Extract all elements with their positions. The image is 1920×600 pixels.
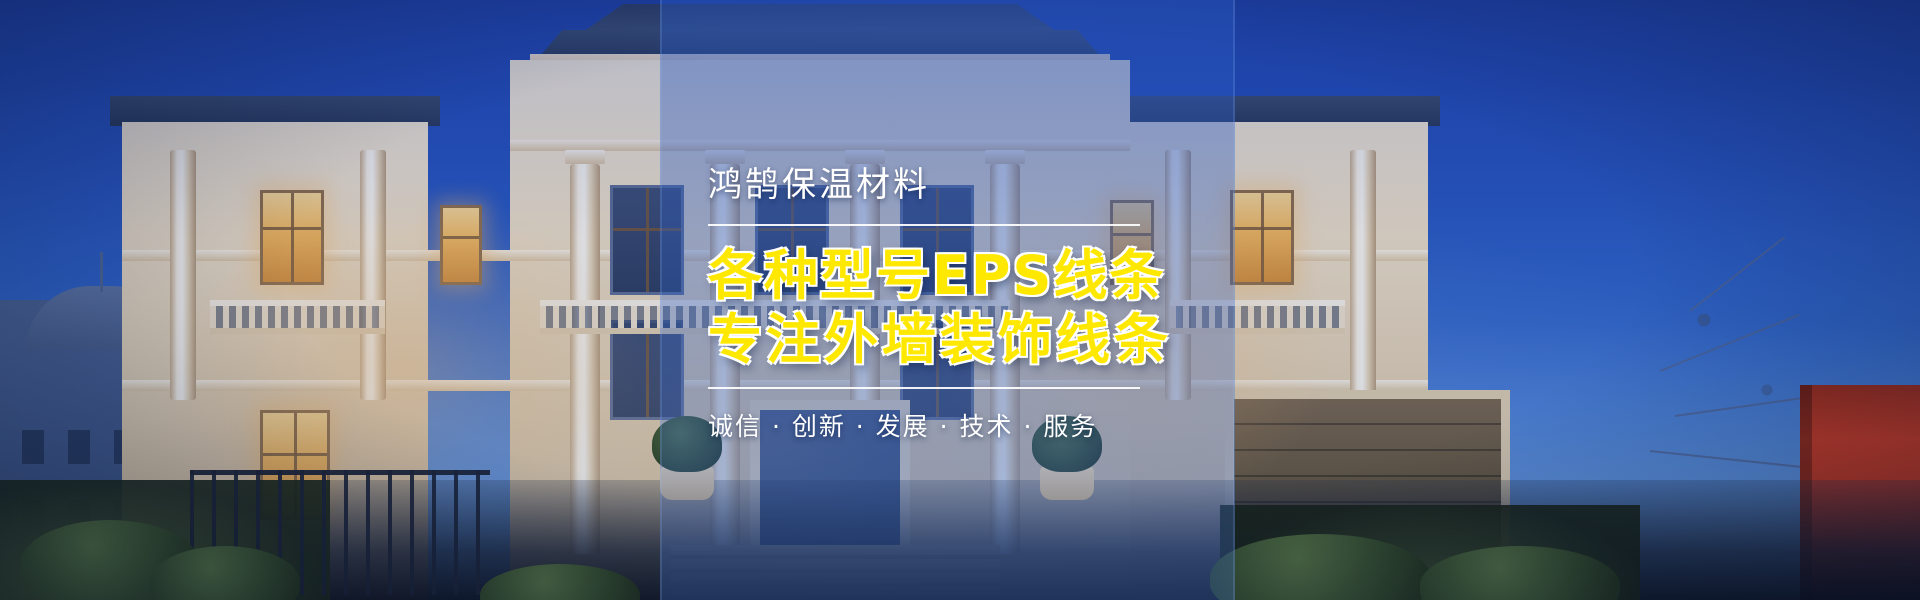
- background-antenna: [100, 252, 103, 292]
- divider-top: [708, 224, 1140, 226]
- pilaster: [360, 150, 386, 400]
- headline-line-2: 专注外墙装饰线条: [708, 308, 1172, 372]
- column-capital: [565, 150, 605, 164]
- brand-name: 鸿鹄保温材料: [708, 157, 930, 206]
- pilaster: [170, 150, 196, 400]
- tagline: 诚信 · 创新 · 发展 · 技术 · 服务: [708, 407, 1097, 443]
- banner-copy-block: 鸿鹄保温材料 各种型号EPS线条 专注外墙装饰线条 诚信 · 创新 · 发展 ·…: [660, 0, 1235, 600]
- promotional-banner: 鸿鹄保温材料 各种型号EPS线条 专注外墙装饰线条 诚信 · 创新 · 发展 ·…: [0, 0, 1920, 600]
- headline-line-1: 各种型号EPS线条: [708, 244, 1172, 308]
- pilaster: [1350, 150, 1376, 400]
- background-window: [22, 430, 44, 464]
- balustrade: [210, 300, 385, 334]
- lit-window: [1230, 190, 1294, 285]
- background-window: [68, 430, 90, 464]
- divider-bottom: [708, 387, 1140, 389]
- headline-block: 各种型号EPS线条 专注外墙装饰线条: [708, 244, 1172, 371]
- lit-window: [260, 190, 324, 285]
- lit-window: [440, 205, 482, 285]
- iron-fence-rail: [190, 470, 490, 475]
